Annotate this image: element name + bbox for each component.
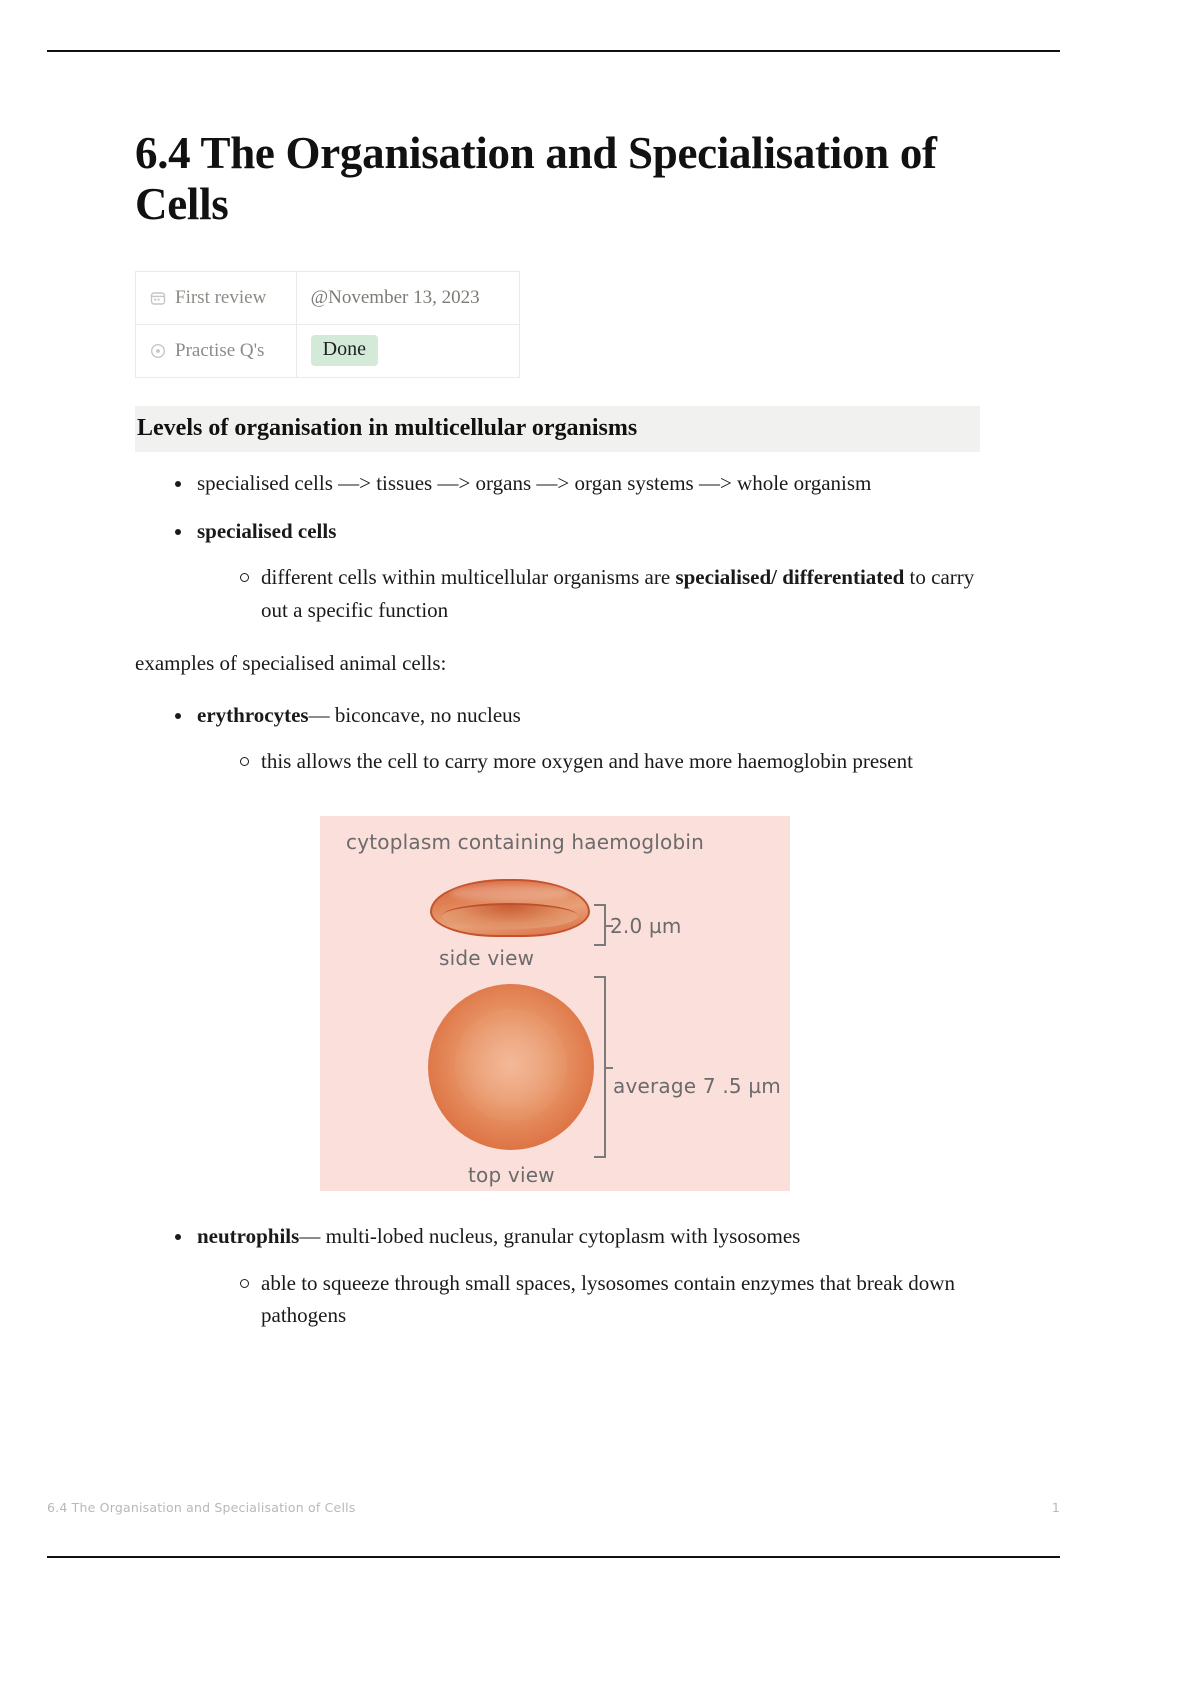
bullet-text: specialised cells [197, 519, 336, 543]
property-key-cell: First review [136, 271, 297, 324]
footer-page-number: 1 [1052, 1500, 1060, 1515]
status-badge: Done [311, 335, 378, 366]
property-value-cell[interactable]: Done [296, 324, 519, 377]
list-item: this allows the cell to carry more oxyge… [233, 745, 990, 778]
erythrocyte-side-view-shape [430, 879, 590, 937]
list-item: different cells within multicellular org… [233, 561, 990, 626]
page-footer: 6.4 The Organisation and Specialisation … [47, 1500, 1060, 1515]
property-key-label: Practise Q's [175, 340, 264, 362]
examples-intro-paragraph: examples of specialised animal cells: [135, 648, 990, 680]
first-review-date: @November 13, 2023 [311, 287, 480, 308]
list-item: neutrophils— multi-lobed nucleus, granul… [167, 1221, 990, 1332]
list-item: specialised cells —> tissues —> organs —… [167, 468, 990, 500]
property-value-cell[interactable]: @November 13, 2023 [296, 271, 519, 324]
neutrophils-bullet-list: neutrophils— multi-lobed nucleus, granul… [167, 1221, 990, 1332]
footer-document-title: 6.4 The Organisation and Specialisation … [47, 1500, 356, 1515]
diameter-bracket-icon [594, 976, 606, 1158]
section-heading: Levels of organisation in multicellular … [135, 406, 980, 453]
calendar-icon [150, 290, 166, 306]
erythrocyte-top-view-shape [428, 984, 594, 1150]
sub-bullet-list: different cells within multicellular org… [233, 561, 990, 626]
figure-label-top-view: top view [468, 1163, 555, 1187]
table-row: Practise Q's Done [136, 324, 520, 377]
list-item: specialised cells different cells within… [167, 516, 990, 627]
levels-bullet-list: specialised cells —> tissues —> organs —… [167, 468, 990, 626]
sub-bullet-list: able to squeeze through small spaces, ly… [233, 1267, 990, 1332]
target-icon [150, 343, 166, 359]
page-top-rule [47, 50, 1060, 52]
bullet-text: specialised cells —> tissues —> organs —… [197, 471, 871, 495]
figure-measure-diameter: average 7 .5 µm [613, 1074, 781, 1098]
sub-bullet-list: this allows the cell to carry more oxyge… [233, 745, 990, 778]
page-bottom-rule [47, 1556, 1060, 1558]
property-key-label: First review [175, 287, 266, 309]
figure-label-side-view: side view [439, 946, 534, 970]
list-item: able to squeeze through small spaces, ly… [233, 1267, 990, 1332]
table-row: First review @November 13, 2023 [136, 271, 520, 324]
example-desc: — multi-lobed nucleus, granular cytoplas… [299, 1224, 800, 1248]
page-title: 6.4 The Organisation and Specialisation … [135, 128, 990, 231]
erythrocytes-bullet-list: erythrocytes— biconcave, no nucleus this… [167, 700, 990, 778]
figure-measure-thickness: 2.0 µm [610, 914, 682, 938]
list-item: erythrocytes— biconcave, no nucleus this… [167, 700, 990, 778]
example-term: erythrocytes [197, 703, 309, 727]
page-content: 6.4 The Organisation and Specialisation … [135, 128, 990, 1348]
figure-caption-cytoplasm: cytoplasm containing haemoglobin [346, 830, 704, 854]
property-key-cell: Practise Q's [136, 324, 297, 377]
properties-table: First review @November 13, 2023 [135, 271, 520, 378]
example-desc: — biconcave, no nucleus [309, 703, 521, 727]
sub-bullet-strong: specialised/ differentiated [675, 565, 904, 589]
thickness-bracket-icon [594, 904, 606, 946]
example-term: neutrophils [197, 1224, 299, 1248]
erythrocyte-diagram: cytoplasm containing haemoglobin side vi… [320, 816, 790, 1191]
sub-bullet-lead: different cells within multicellular org… [261, 565, 675, 589]
document-page: 6.4 The Organisation and Specialisation … [0, 0, 1200, 1700]
